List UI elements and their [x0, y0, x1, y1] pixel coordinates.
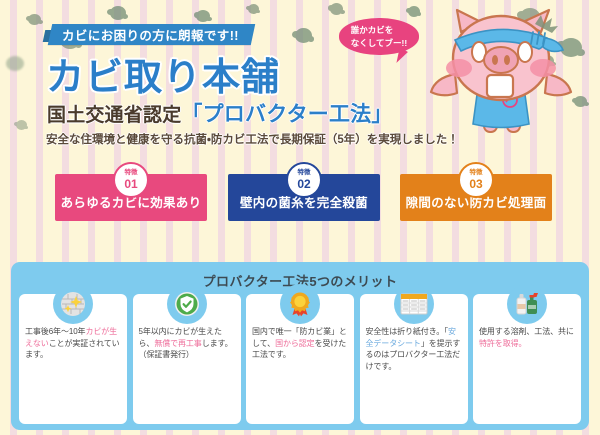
- mold-spot-icon: [28, 14, 41, 25]
- feature-box-01[interactable]: 特徴 01 あらゆるカビに効果あり: [55, 174, 207, 221]
- feature-box-02[interactable]: 特徴 02 壁内の菌糸を完全殺菌: [228, 174, 380, 221]
- badge-number-label: 02: [297, 178, 310, 190]
- badge-kind-label: 特徴: [470, 170, 483, 177]
- ribbon-text: カビにお困りの方に朗報です!!: [62, 25, 239, 44]
- merit-text-highlight: 国から認定: [275, 339, 315, 348]
- mold-fuzz-icon: [6, 56, 24, 71]
- data-sheet-table-icon: [394, 284, 434, 324]
- merit-card-text: 5年以内にカビが生えたら、無償で再工事します。（保証書発行）: [139, 326, 235, 361]
- sparkling-brick-wall-icon: [53, 284, 93, 324]
- merit-card-text: 国内で唯一「防カビ業」として、国から認定を受けた工法です。: [252, 326, 348, 361]
- page-root: カビにお困りの方に朗報です!! カビ取り本舗 国土交通省認定「プロバクター工法」…: [0, 0, 600, 435]
- badge-number-label: 03: [469, 178, 482, 190]
- method-name: 「プロバクター工法」: [181, 103, 392, 126]
- feature-badge-01: 特徴 01: [113, 162, 149, 198]
- merit-card-list: 工事後6年～10年カビが生えないことが実証されています。 5年以内にカビが生えた…: [19, 294, 581, 424]
- merit-card[interactable]: 安全性は折り紙付き。「安全データシート」を提示するのはプロバクター工法だけです。: [360, 294, 468, 424]
- page-title: カビ取り本舗: [46, 46, 280, 101]
- badge-kind-label: 特徴: [125, 170, 138, 177]
- certification-prefix: 国土交通省認定: [47, 105, 181, 126]
- merit-card-text: 安全性は折り紙付き。「安全データシート」を提示するのはプロバクター工法だけです。: [366, 326, 462, 372]
- badge-kind-label: 特徴: [298, 170, 311, 177]
- mold-spot-icon: [408, 6, 420, 17]
- merit-card[interactable]: 工事後6年～10年カビが生えないことが実証されています。: [19, 294, 127, 424]
- green-shield-check-icon: [167, 284, 207, 324]
- speech-bubble: 誰かカビを なくしてブー!!: [339, 18, 419, 55]
- merit-card[interactable]: 5年以内にカビが生えたら、無償で再工事します。（保証書発行）: [133, 294, 241, 424]
- mold-spot-icon: [110, 6, 126, 20]
- merit-card-text: 工事後6年～10年カビが生えないことが実証されています。: [25, 326, 121, 361]
- feature-box-03[interactable]: 特徴 03 隙間のない防カビ処理面: [400, 174, 552, 221]
- merit-text-highlight: 無償で再工事: [154, 339, 201, 348]
- speech-bubble-text: 誰かカビを なくしてブー!!: [351, 24, 407, 49]
- mold-spot-icon: [330, 3, 343, 15]
- mold-spot-icon: [16, 120, 27, 130]
- merit-text-highlight: 特許を取得。: [479, 339, 526, 348]
- merit-text-part: 安全性は折り紙付き。「: [366, 327, 449, 336]
- feature-badge-02: 特徴 02: [286, 162, 322, 198]
- certification-subtitle: 国土交通省認定「プロバクター工法」: [47, 98, 393, 128]
- cleaning-bottle-spray-icon: [507, 284, 547, 324]
- lead-description: 安全な住環境と健康を守る抗菌・防カビ工法で長期保証（5年）を実現しました！: [46, 131, 459, 147]
- feature-badge-03: 特徴 03: [458, 162, 494, 198]
- merit-card[interactable]: 使用する溶剤、工法、共に特許を取得。: [473, 294, 581, 424]
- announcement-ribbon: カビにお困りの方に朗報です!!: [48, 24, 255, 45]
- merits-panel: プロバクター工法5つのメリット: [11, 262, 589, 430]
- badge-number-label: 01: [124, 178, 137, 190]
- feature-boxes: 特徴 01 あらゆるカビに効果あり 特徴 02 壁内の菌糸を完全殺菌 特徴 03…: [0, 174, 600, 230]
- merit-text-part: 工事後6年～10年: [25, 327, 85, 336]
- merit-card[interactable]: 国内で唯一「防カビ業」として、国から認定を受けた工法です。: [246, 294, 354, 424]
- mold-spot-icon: [295, 28, 312, 43]
- gold-award-ribbon-icon: [280, 284, 320, 324]
- mold-spot-icon: [248, 4, 259, 14]
- merit-text-part: 使用する溶剤、工法、共に: [479, 327, 574, 336]
- pig-mascot-icon: [427, 2, 595, 154]
- merit-card-text: 使用する溶剤、工法、共に特許を取得。: [479, 326, 575, 349]
- mold-spot-icon: [196, 10, 210, 22]
